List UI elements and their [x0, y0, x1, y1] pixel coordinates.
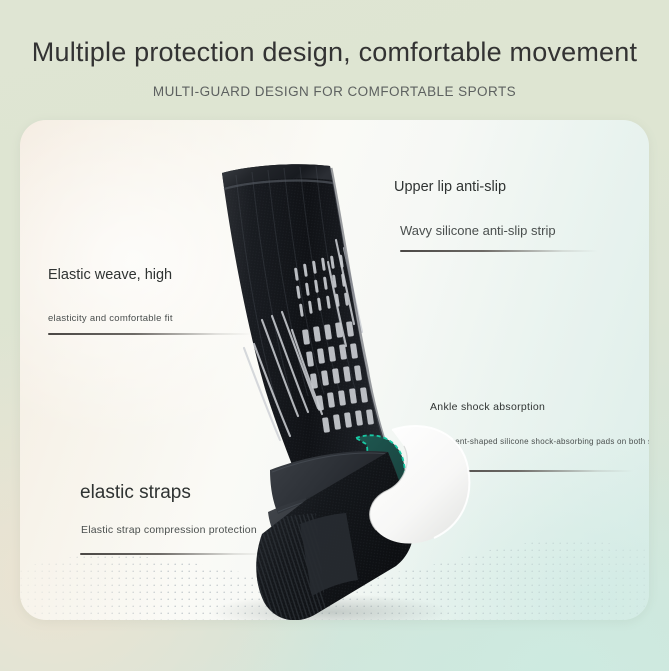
callout-elastic-weave: Elastic weave, high elasticity and comfo… [48, 266, 173, 326]
header: Multiple protection design, comfortable … [0, 0, 669, 100]
page-title: Multiple protection design, comfortable … [0, 0, 669, 68]
callout-ankle: Ankle shock absorption Crescent-shaped s… [430, 400, 649, 448]
callout-ankle-title: Ankle shock absorption [430, 400, 649, 414]
callout-elastic-weave-title: Elastic weave, high [48, 266, 173, 284]
callout-straps: elastic straps Elastic strap compression… [80, 481, 257, 537]
callout-ankle-subtitle: Crescent-shaped silicone shock-absorbing… [433, 436, 649, 448]
callout-upper-lip: Upper lip anti-slip Wavy silicone anti-s… [394, 178, 556, 239]
callout-elastic-weave-rule [48, 333, 253, 335]
page-subtitle: MULTI-GUARD DESIGN FOR COMFORTABLE SPORT… [0, 68, 669, 100]
callout-upper-lip-title: Upper lip anti-slip [394, 178, 556, 196]
callout-upper-lip-rule [400, 250, 598, 252]
product-card: Upper lip anti-slip Wavy silicone anti-s… [20, 120, 649, 620]
callout-straps-subtitle: Elastic strap compression protection [81, 523, 257, 537]
callout-upper-lip-subtitle: Wavy silicone anti-slip strip [400, 222, 556, 239]
callout-ankle-rule [433, 470, 633, 472]
callout-straps-title: elastic straps [80, 481, 257, 505]
callout-elastic-weave-subtitle: elasticity and comfortable fit [48, 312, 173, 326]
infographic-page: Multiple protection design, comfortable … [0, 0, 669, 671]
callout-straps-rule [80, 553, 268, 555]
